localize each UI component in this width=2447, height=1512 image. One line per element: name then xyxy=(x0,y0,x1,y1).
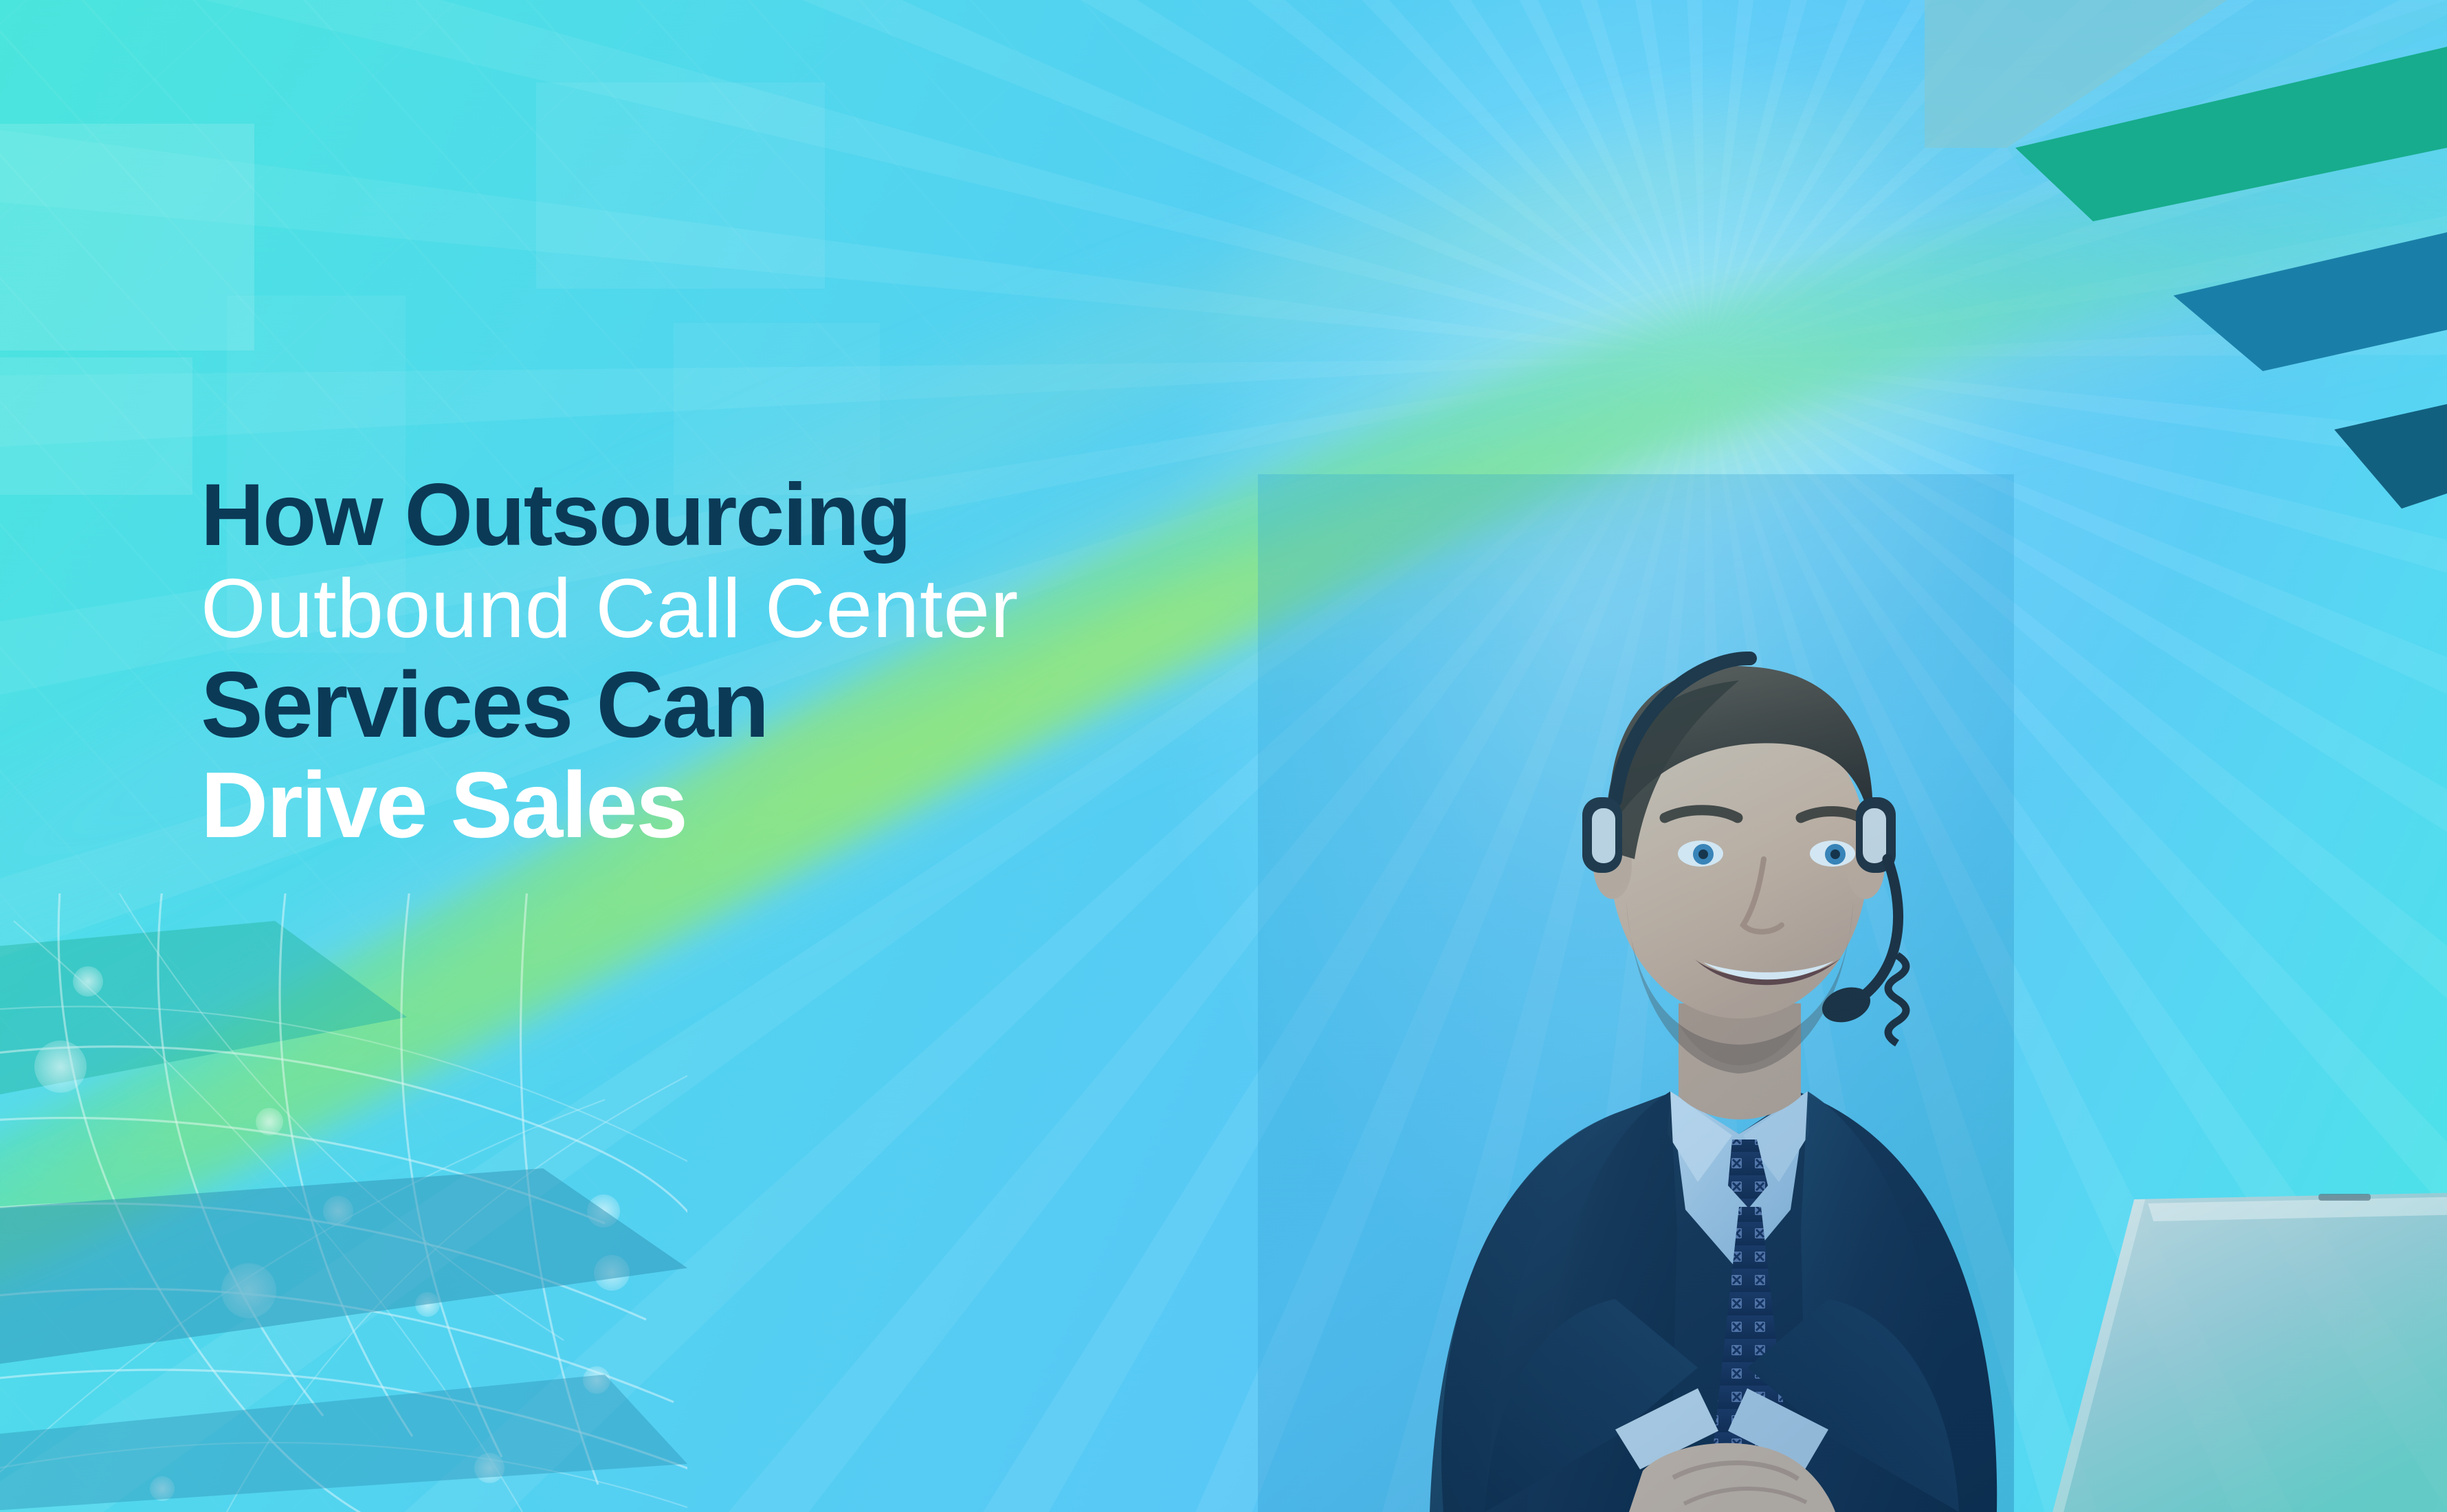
dark-blue-bar xyxy=(2334,404,2447,509)
glass-panel xyxy=(0,124,254,351)
headline-line-4: Drive Sales xyxy=(201,760,1410,851)
headline-block: How Outsourcing Outbound Call Center Ser… xyxy=(201,473,1410,851)
laptop-rear xyxy=(2045,1144,2447,1512)
glass-panel xyxy=(0,357,192,495)
bottom-left-network-decoration xyxy=(0,893,687,1512)
laptop-hinge-notch xyxy=(2318,1194,2371,1201)
headline-line-1: How Outsourcing xyxy=(201,473,1410,558)
steel-translucent-bar-2 xyxy=(0,1375,687,1512)
headline-line-2: Outbound Call Center xyxy=(201,568,1410,649)
glass-panel xyxy=(536,82,825,289)
steel-translucent-bar xyxy=(0,1168,687,1368)
mid-blue-bar xyxy=(2173,232,2447,371)
banner-canvas: How Outsourcing Outbound Call Center Ser… xyxy=(0,0,2447,1512)
headline-line-3: Services Can xyxy=(201,660,1410,751)
laptop-lid xyxy=(2052,1192,2447,1512)
